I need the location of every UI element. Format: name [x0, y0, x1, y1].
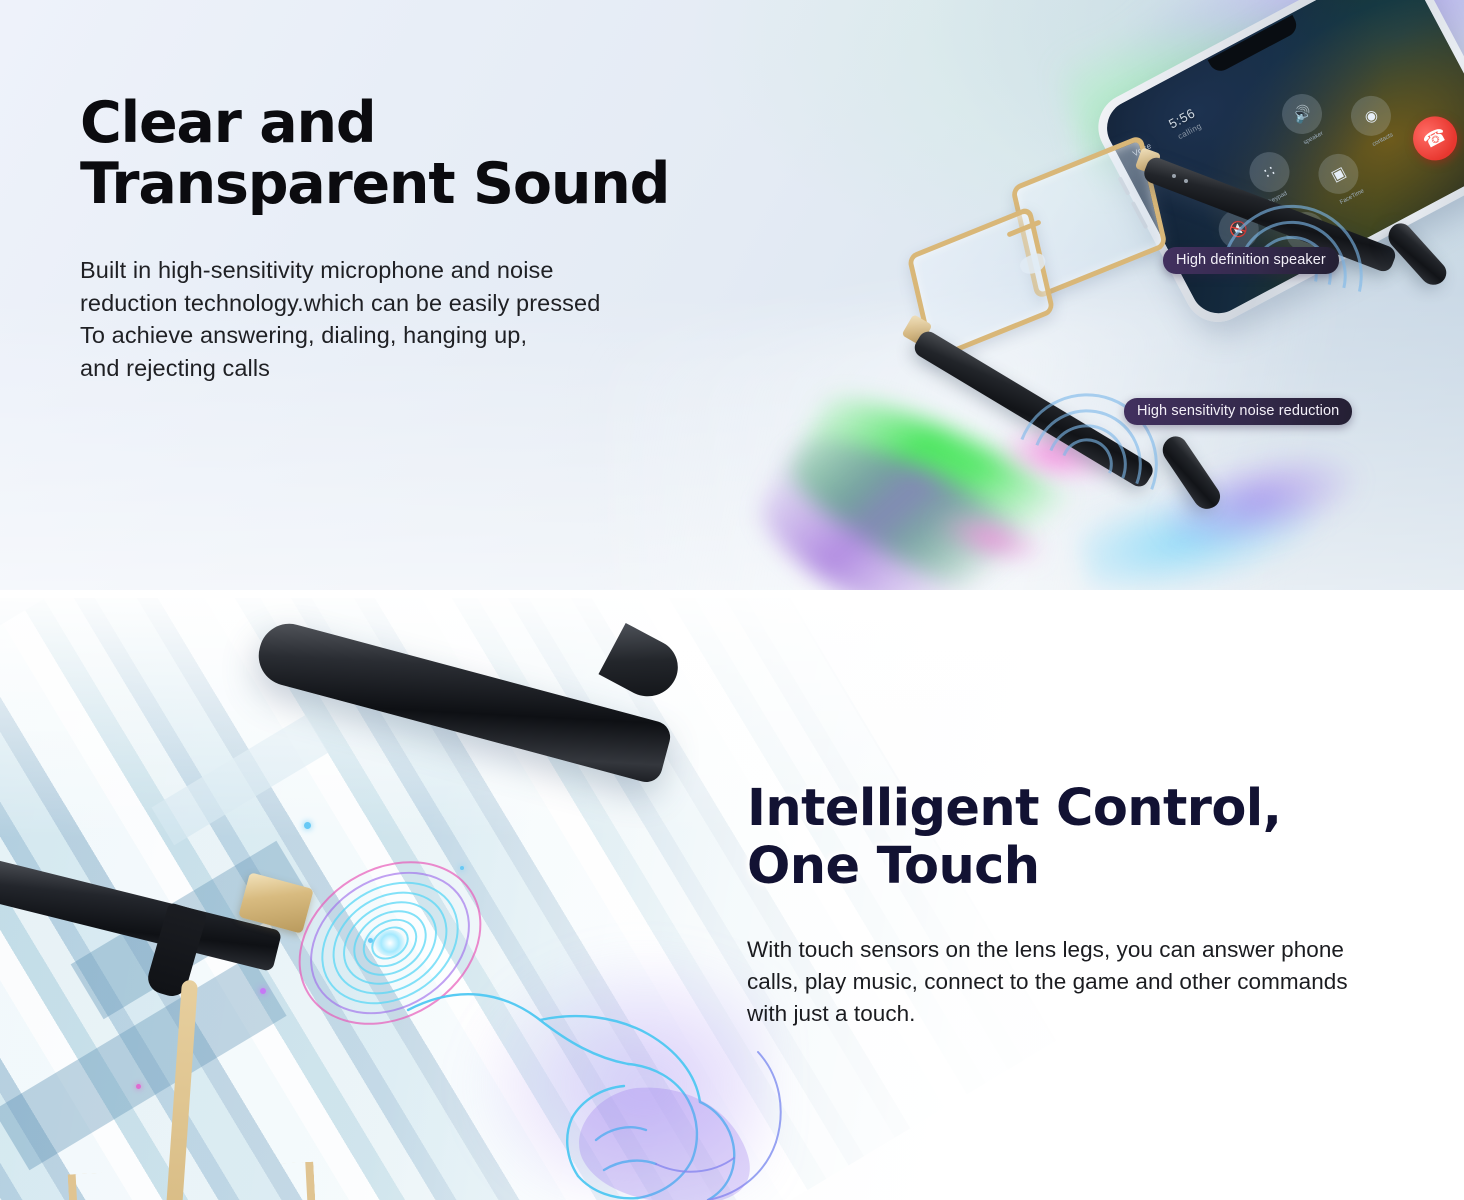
section-divider [0, 590, 1464, 598]
callout-high-definition-speaker: High definition speaker [1163, 247, 1339, 274]
section-clear-transparent-sound: Volte 5:56 calling 🔇 mute ∷ keypad 🔊 spe… [0, 0, 1464, 590]
callout-high-sensitivity-noise-reduction: High sensitivity noise reduction [1124, 398, 1352, 425]
microphone-port-dot [1172, 174, 1176, 178]
section-intelligent-control: Intelligent Control, One Touch With touc… [0, 598, 1464, 1200]
page-title-intelligent-control: Intelligent Control, One Touch [747, 780, 1427, 896]
glasses-temple-arm-large [252, 617, 674, 786]
glasses-temple-tip-lower [1157, 432, 1224, 515]
page-title-clear-transparent-sound: Clear and Transparent Sound [80, 93, 800, 215]
product-feature-page: Volte 5:56 calling 🔇 mute ∷ keypad 🔊 spe… [0, 0, 1464, 1200]
spark-dot [304, 822, 311, 829]
gold-lens-rim-bottom [68, 1162, 319, 1200]
spark-dot [260, 988, 266, 994]
body-text-intelligent-control: With touch sensors on the lens legs, you… [747, 896, 1427, 1029]
glasses-temple-tip-hook [598, 623, 687, 707]
top-text-block: Clear and Transparent Sound Built in hig… [80, 93, 800, 385]
smart-glasses-illustration [900, 130, 1464, 570]
microphone-port-dot-secondary [1184, 179, 1188, 183]
bottom-text-block: Intelligent Control, One Touch With touc… [747, 780, 1427, 1029]
spark-dot [368, 938, 373, 943]
body-text-clear-transparent-sound: Built in high-sensitivity microphone and… [80, 215, 800, 385]
spark-dot [136, 1084, 141, 1089]
spark-dot [460, 866, 464, 870]
